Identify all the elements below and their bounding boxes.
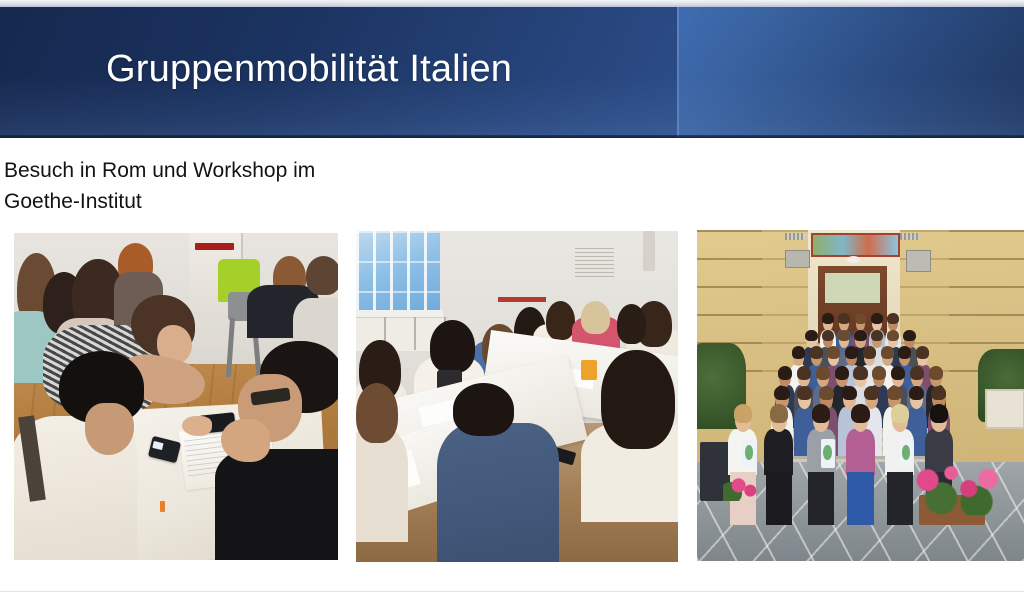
photo-classroom-table <box>14 233 338 560</box>
photo-row <box>0 0 1024 596</box>
photo-workshop-tables <box>356 231 678 562</box>
presentation-slide: Gruppenmobilität Italien Besuch in Rom u… <box>0 0 1024 596</box>
photo-3-scene <box>697 230 1024 561</box>
photo-1-scene <box>14 233 338 560</box>
photo-2-scene <box>356 231 678 562</box>
slide-bottom-hairline <box>0 591 1024 592</box>
photo-group-steps <box>697 230 1024 561</box>
